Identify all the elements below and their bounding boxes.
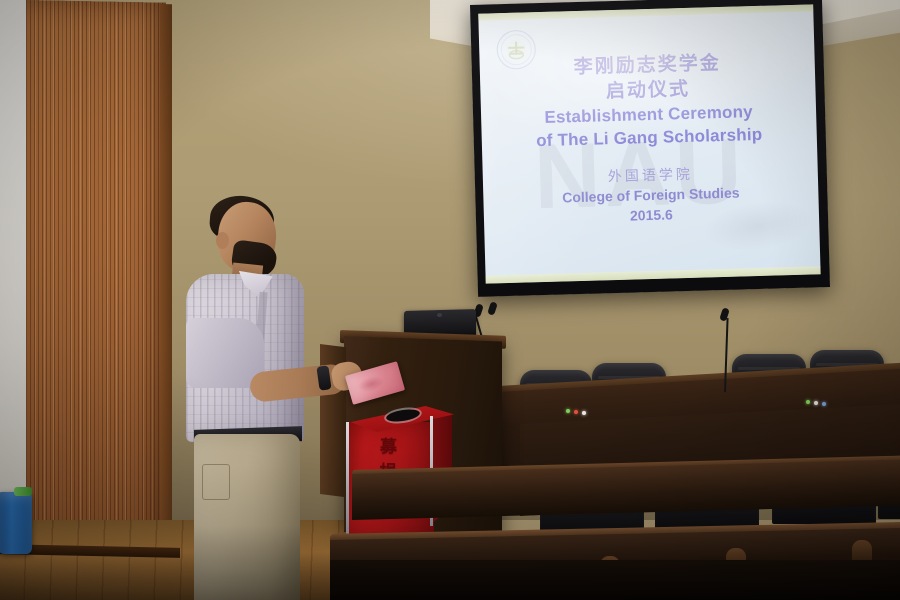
led-white-right (814, 401, 818, 405)
projection-screen: NAU 李刚励志奖学金 启动仪式 Establishment Ceremony … (470, 0, 830, 297)
foreground-shadow (330, 560, 900, 600)
lecture-hall-photo: NAU 李刚励志奖学金 启动仪式 Establishment Ceremony … (0, 0, 900, 600)
donation-box-edge-left (346, 422, 349, 540)
screen-surface: NAU 李刚励志奖学金 启动仪式 Establishment Ceremony … (478, 4, 820, 283)
pants-shadow (194, 434, 300, 600)
led-white-left (582, 411, 586, 415)
led-green-right (806, 400, 810, 404)
led-green-left (566, 409, 570, 413)
led-blue-right (822, 402, 826, 406)
ear (216, 232, 229, 249)
blue-water-bin (0, 492, 32, 554)
led-red-left (574, 410, 578, 414)
wood-slat-panel (26, 0, 166, 555)
wood-panel-edge (160, 4, 172, 552)
blue-bin-cap-icon (14, 487, 32, 496)
slide-text-block: 李刚励志奖学金 启动仪式 Establishment Ceremony of T… (479, 48, 819, 230)
